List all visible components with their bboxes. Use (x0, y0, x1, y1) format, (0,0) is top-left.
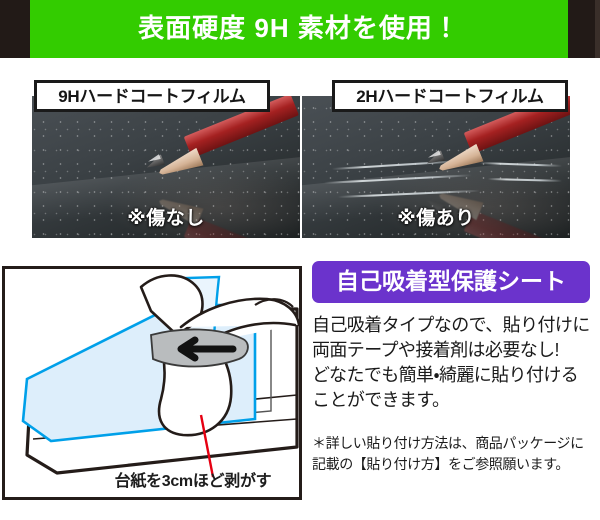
header-right-edge (595, 0, 600, 58)
photo-label-9h: 9Hハードコートフィルム (34, 80, 270, 112)
comparison-panel-9h: ※傷なし 9Hハードコートフィルム (32, 80, 300, 238)
peel-backing-illustration (5, 269, 299, 497)
photo-caption-2h: ※傷あり (302, 203, 570, 230)
header-banner: 表面硬度 9H 素材を使用！ (0, 0, 600, 58)
feature-text-block: 自己吸着型保護シート 自己吸着タイプなので、貼り付けに 両面テープや接着剤は必要… (312, 261, 592, 475)
photo-caption-9h: ※傷なし (32, 203, 300, 230)
photo-2h-hardcoat-film: ※傷あり (302, 96, 570, 238)
pencil-illustration (420, 126, 570, 186)
illustration-caption: 台紙を3cmほど剥がす (93, 467, 293, 491)
photo-9h-hardcoat-film: ※傷なし (32, 96, 300, 238)
feature-body-text: 自己吸着タイプなので、貼り付けに 両面テープや接着剤は必要なし! どなたでも簡単… (312, 313, 595, 413)
feature-badge: 自己吸着型保護シート (312, 261, 590, 303)
application-illustration-panel: 台紙を3cmほど剥がす (2, 266, 302, 500)
promo-banner-page: 表面硬度 9H 素材を使用！ ※傷なし 9Hハードコートフィルム (0, 0, 600, 520)
pencil-illustration (140, 130, 290, 190)
photo-label-2h: 2Hハードコートフィルム (332, 80, 568, 112)
comparison-panel-2h: ※傷あり 2Hハードコートフィルム (302, 80, 570, 238)
feature-note-text: ＊詳しい貼り付け方法は、商品パッケージに 記載の【貼り付け方】をご参照願います。 (312, 433, 595, 475)
header-title: 表面硬度 9H 素材を使用！ (30, 0, 568, 58)
